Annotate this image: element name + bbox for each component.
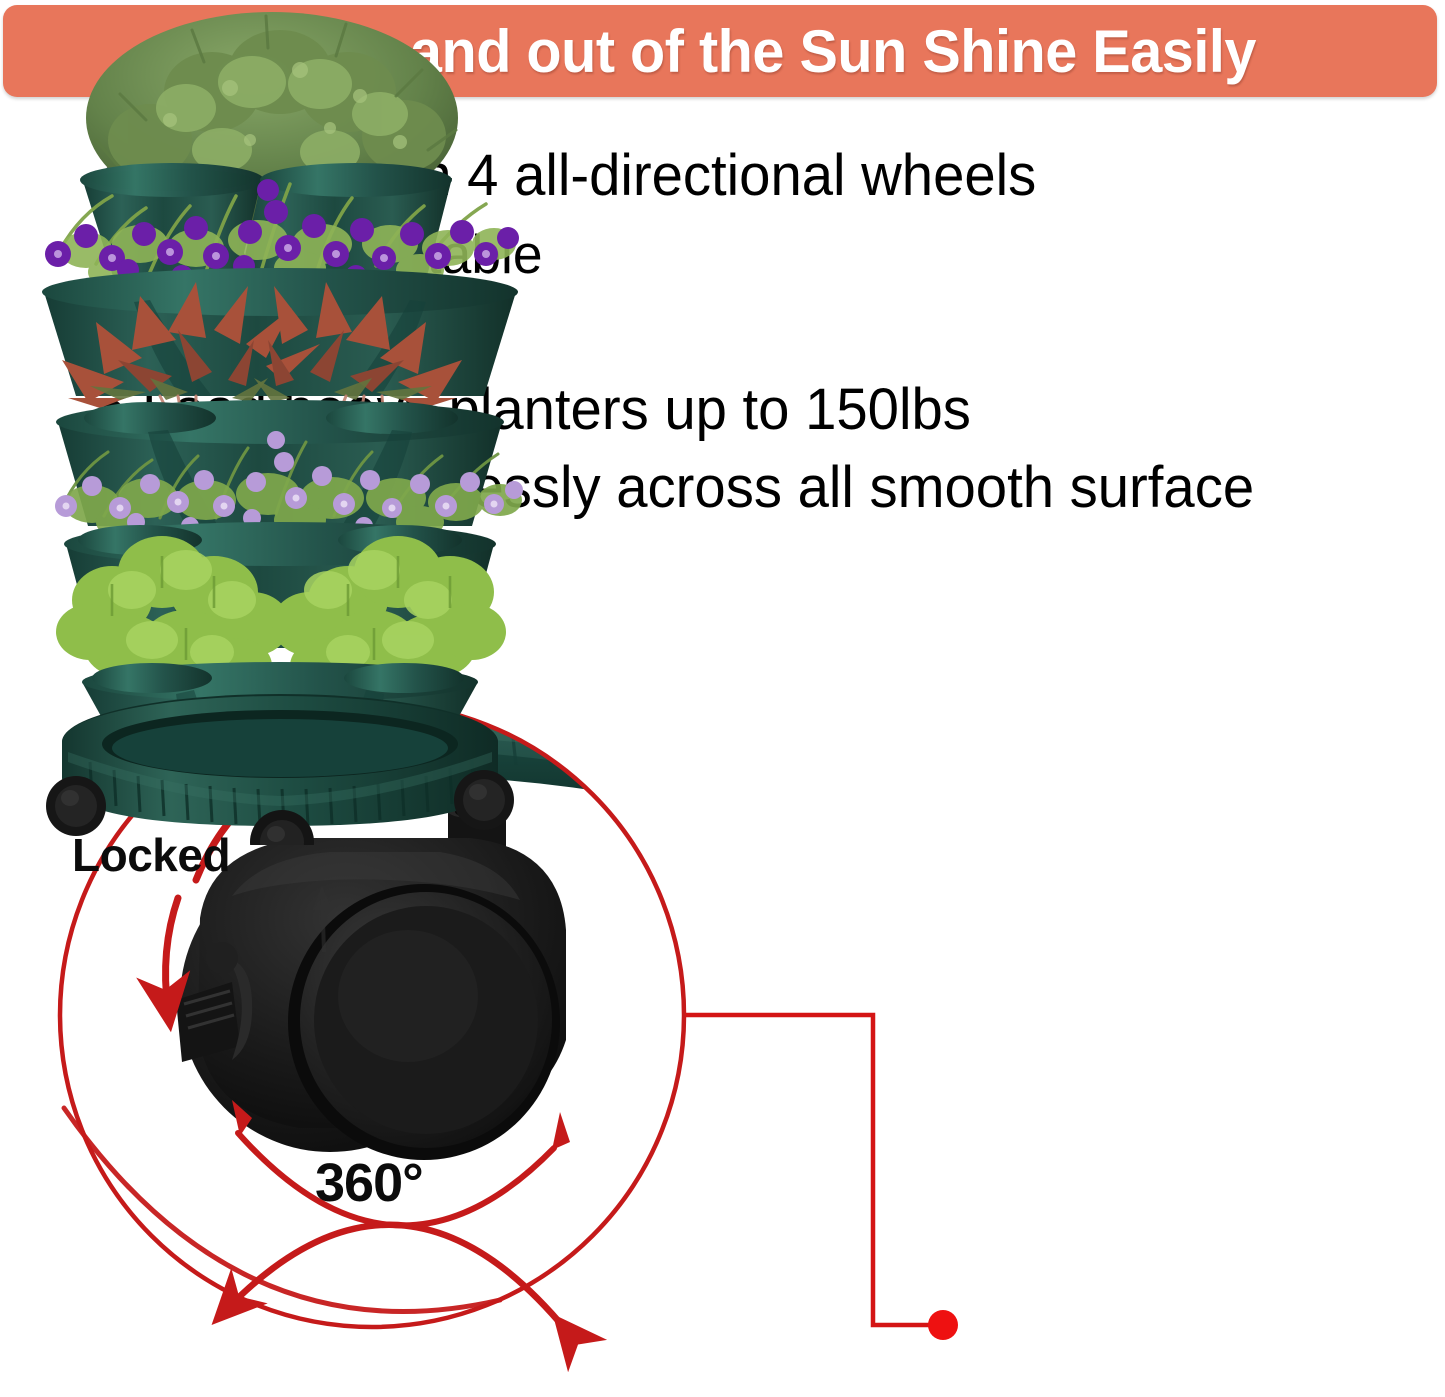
base-wheel [454, 770, 514, 830]
locked-arrow-down-icon [166, 898, 178, 1010]
rotation-arrow-right-icon [552, 1112, 570, 1150]
base-wheel [46, 776, 106, 836]
stacked-planter-tower [0, 0, 560, 845]
wheeled-base-tray [46, 694, 514, 845]
rotation-degree-label: 360° [315, 1152, 423, 1214]
